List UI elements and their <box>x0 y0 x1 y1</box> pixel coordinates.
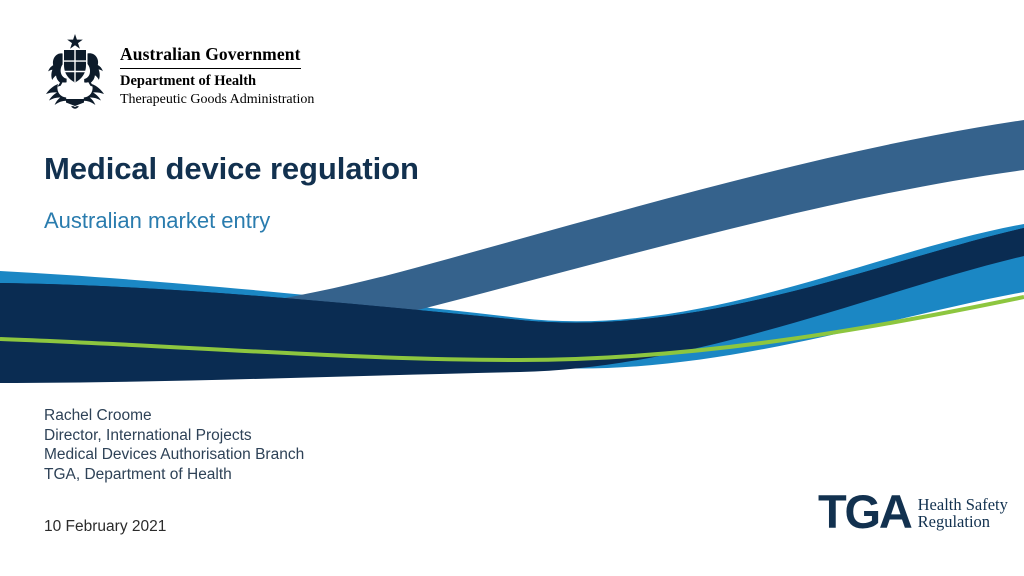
presenter-details: Rachel Croome Director, International Pr… <box>44 406 304 484</box>
tga-logo-tagline: Health Safety Regulation <box>918 494 1008 531</box>
wave-band-navy-lower <box>0 228 1024 383</box>
tga-tagline-line-2: Regulation <box>918 513 1008 531</box>
tga-logo-mark: TGA <box>818 490 911 535</box>
wave-band-bright-blue <box>0 224 1024 369</box>
australian-coat-of-arms-icon <box>38 32 112 110</box>
crest-divider-rule <box>120 68 301 69</box>
presenter-branch: Medical Devices Authorisation Branch <box>44 445 304 465</box>
presenter-name: Rachel Croome <box>44 406 304 426</box>
crest-line-australian-government: Australian Government <box>120 45 314 64</box>
title-block: Medical device regulation Australian mar… <box>44 152 684 234</box>
wave-accent-line-green <box>0 297 1024 360</box>
page-subtitle: Australian market entry <box>44 208 684 234</box>
australian-government-crest-header: Australian Government Department of Heal… <box>38 32 314 110</box>
crest-line-department-of-health: Department of Health <box>120 73 314 90</box>
tga-tagline-line-1: Health Safety <box>918 496 1008 514</box>
presentation-slide: Australian Government Department of Heal… <box>0 0 1024 576</box>
presentation-date: 10 February 2021 <box>44 518 166 536</box>
wave-band-navy <box>0 228 1024 350</box>
presenter-role: Director, International Projects <box>44 426 304 446</box>
tga-logo: TGA Health Safety Regulation <box>818 490 1008 535</box>
presenter-organisation: TGA, Department of Health <box>44 465 304 485</box>
crest-line-therapeutic-goods-administration: Therapeutic Goods Administration <box>120 92 314 109</box>
page-title: Medical device regulation <box>44 152 684 186</box>
crest-wordmark: Australian Government Department of Heal… <box>120 32 314 108</box>
